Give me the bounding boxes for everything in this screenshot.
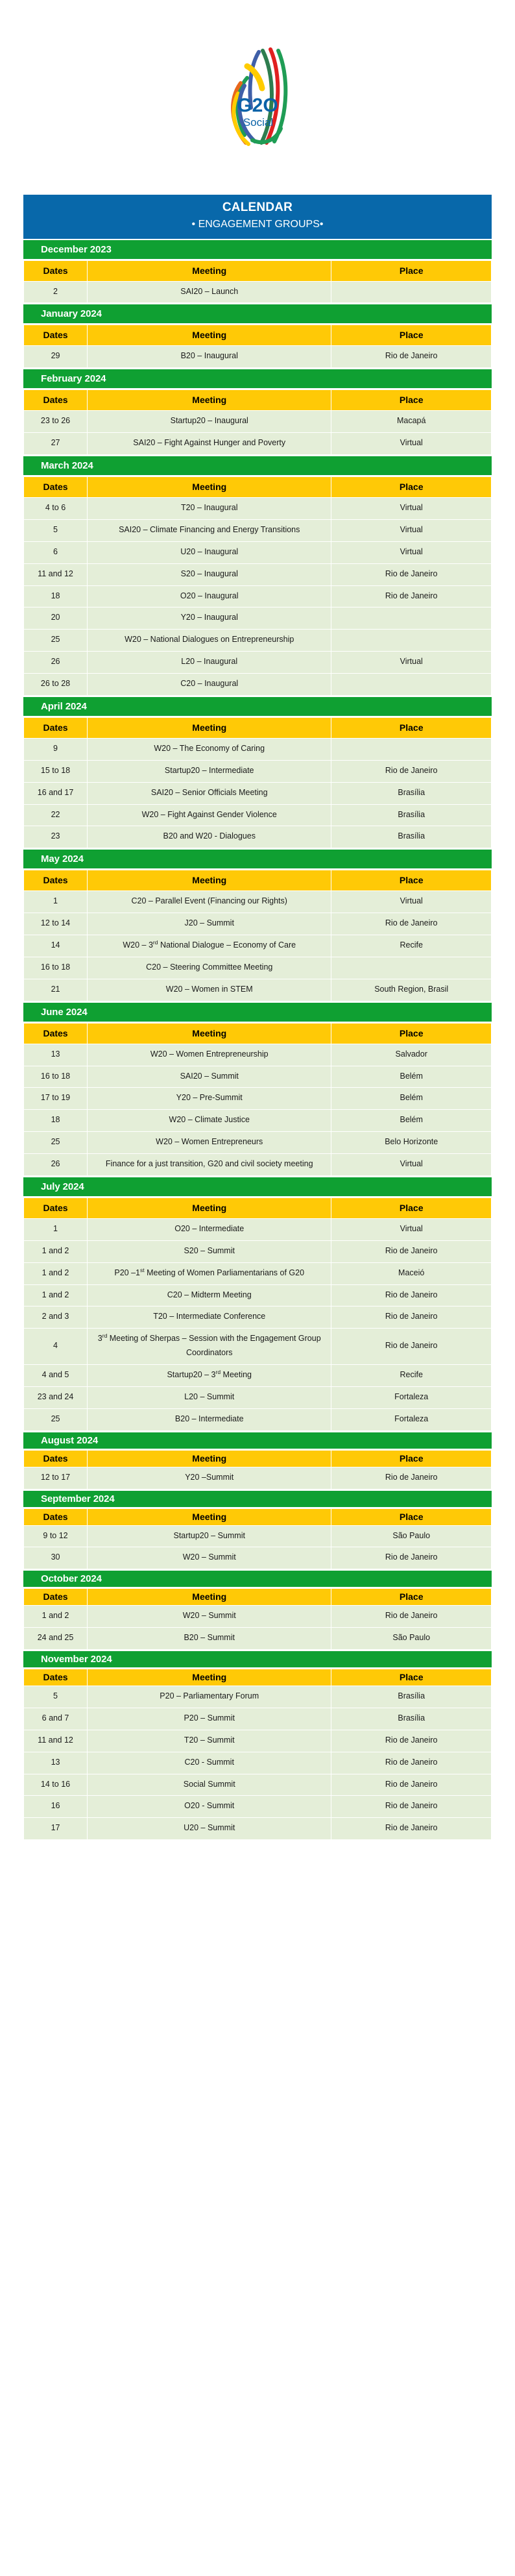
cell-place xyxy=(331,607,492,630)
cell-dates: 24 and 25 xyxy=(24,1628,88,1650)
table-row: 4 to 6T20 – InauguralVirtual xyxy=(24,498,492,520)
table-row: 30W20 – SummitRio de Janeiro xyxy=(24,1547,492,1569)
cell-meeting: L20 – Inaugural xyxy=(88,652,331,674)
cell-dates: 2 and 3 xyxy=(24,1306,88,1329)
cell-meeting: B20 – Inaugural xyxy=(88,346,331,368)
cell-dates: 16 to 18 xyxy=(24,1066,88,1088)
column-header-dates: Dates xyxy=(24,1023,88,1044)
cell-meeting: SAI20 – Summit xyxy=(88,1066,331,1088)
table-row: 1C20 – Parallel Event (Financing our Rig… xyxy=(24,891,492,913)
cell-place: Rio de Janeiro xyxy=(331,1306,492,1329)
table-row: 16O20 - SummitRio de Janeiro xyxy=(24,1796,492,1818)
table-row: 11 and 12S20 – InauguralRio de Janeiro xyxy=(24,563,492,585)
cell-meeting: W20 – Women in STEM xyxy=(88,979,331,1001)
month-header: June 2024 xyxy=(23,1003,492,1022)
column-header-dates: Dates xyxy=(24,1197,88,1218)
table-row: 16 to 18SAI20 – SummitBelém xyxy=(24,1066,492,1088)
cell-dates: 27 xyxy=(24,433,88,455)
cell-dates: 26 xyxy=(24,1154,88,1176)
month-header: May 2024 xyxy=(23,850,492,868)
table-row: 14 to 16Social SummitRio de Janeiro xyxy=(24,1774,492,1796)
cell-dates: 26 to 28 xyxy=(24,674,88,696)
cell-place: Rio de Janeiro xyxy=(331,1606,492,1628)
cell-meeting: B20 and W20 - Dialogues xyxy=(88,826,331,848)
cell-place: Rio de Janeiro xyxy=(331,1329,492,1365)
month-header: April 2024 xyxy=(23,697,492,716)
cell-place: Macapá xyxy=(331,411,492,433)
cell-place: Brasília xyxy=(331,1708,492,1730)
table-row: 4 and 5Startup20 – 3rd MeetingRecife xyxy=(24,1365,492,1387)
cell-dates: 6 xyxy=(24,541,88,563)
table-header-row: DatesMeetingPlace xyxy=(24,870,492,891)
cell-dates: 30 xyxy=(24,1547,88,1569)
cell-meeting: O20 – Intermediate xyxy=(88,1218,331,1240)
cell-meeting: Social Summit xyxy=(88,1774,331,1796)
cell-place xyxy=(331,674,492,696)
calendar-title: CALENDAR xyxy=(23,199,492,217)
cell-place: Belém xyxy=(331,1110,492,1132)
table-row: 13C20 - SummitRio de Janeiro xyxy=(24,1752,492,1774)
cell-place: Rio de Janeiro xyxy=(331,1818,492,1840)
column-header-dates: Dates xyxy=(24,1450,88,1467)
cell-meeting: L20 – Summit xyxy=(88,1386,331,1408)
table-row: 23B20 and W20 - DialoguesBrasília xyxy=(24,826,492,848)
table-row: 11 and 12T20 – SummitRio de Janeiro xyxy=(24,1730,492,1752)
cell-meeting: SAI20 – Launch xyxy=(88,281,331,303)
cell-meeting: P20 – Summit xyxy=(88,1708,331,1730)
cell-meeting: Startup20 – Summit xyxy=(88,1525,331,1547)
g20-social-logo: G2O Social xyxy=(219,45,296,149)
calendar-banner: CALENDAR • ENGAGEMENT GROUPS• xyxy=(23,195,492,239)
month-table: DatesMeetingPlace13W20 – Women Entrepren… xyxy=(23,1023,492,1176)
table-row: 2 and 3T20 – Intermediate ConferenceRio … xyxy=(24,1306,492,1329)
column-header-meeting: Meeting xyxy=(88,325,331,346)
cell-meeting: P20 – Parliamentary Forum xyxy=(88,1686,331,1708)
table-row: 9 to 12Startup20 – SummitSão Paulo xyxy=(24,1525,492,1547)
month-label: August 2024 xyxy=(41,1435,98,1446)
month-label: January 2024 xyxy=(41,308,102,319)
cell-place: Virtual xyxy=(331,891,492,913)
cell-meeting: W20 – Women Entrepreneurship xyxy=(88,1044,331,1066)
cell-place: Virtual xyxy=(331,433,492,455)
column-header-place: Place xyxy=(331,1450,492,1467)
table-header-row: DatesMeetingPlace xyxy=(24,477,492,498)
month-header: October 2024 xyxy=(23,1571,492,1587)
cell-dates: 11 and 12 xyxy=(24,563,88,585)
calendar-table: CALENDAR • ENGAGEMENT GROUPS• December 2… xyxy=(23,195,492,1840)
cell-meeting: U20 – Inaugural xyxy=(88,541,331,563)
cell-place: Virtual xyxy=(331,1218,492,1240)
cell-dates: 9 to 12 xyxy=(24,1525,88,1547)
table-row: 27SAI20 – Fight Against Hunger and Pover… xyxy=(24,433,492,455)
column-header-dates: Dates xyxy=(24,717,88,738)
cell-meeting: S20 – Summit xyxy=(88,1240,331,1262)
month-table: DatesMeetingPlace29B20 – InauguralRio de… xyxy=(23,325,492,368)
crescent-moon-icon xyxy=(30,1655,37,1663)
column-header-meeting: Meeting xyxy=(88,260,331,281)
month-header: February 2024 xyxy=(23,369,492,388)
cell-place: Rio de Janeiro xyxy=(331,563,492,585)
cell-place: Virtual xyxy=(331,541,492,563)
cell-dates: 22 xyxy=(24,804,88,826)
cell-dates: 13 xyxy=(24,1752,88,1774)
cell-meeting: B20 – Summit xyxy=(88,1628,331,1650)
cell-meeting: Y20 –Summit xyxy=(88,1467,331,1489)
cell-meeting: C20 – Parallel Event (Financing our Righ… xyxy=(88,891,331,913)
table-header-row: DatesMeetingPlace xyxy=(24,717,492,738)
month-label: September 2024 xyxy=(41,1493,115,1504)
months-list: December 2023DatesMeetingPlace2SAI20 – L… xyxy=(23,240,492,1841)
cell-meeting: W20 – Summit xyxy=(88,1547,331,1569)
cell-dates: 25 xyxy=(24,630,88,652)
cell-meeting: 3rd Meeting of Sherpas – Session with th… xyxy=(88,1329,331,1365)
cell-meeting: T20 – Summit xyxy=(88,1730,331,1752)
cell-dates: 21 xyxy=(24,979,88,1001)
cell-dates: 29 xyxy=(24,346,88,368)
table-row: 24 and 25B20 – SummitSão Paulo xyxy=(24,1628,492,1650)
table-row: 1 and 2C20 – Midterm MeetingRio de Janei… xyxy=(24,1284,492,1306)
table-header-row: DatesMeetingPlace xyxy=(24,1589,492,1606)
table-row: 1 and 2S20 – SummitRio de Janeiro xyxy=(24,1240,492,1262)
table-header-row: DatesMeetingPlace xyxy=(24,1450,492,1467)
table-row: 18W20 – Climate JusticeBelém xyxy=(24,1110,492,1132)
cell-dates: 1 xyxy=(24,891,88,913)
table-header-row: DatesMeetingPlace xyxy=(24,260,492,281)
month-table: DatesMeetingPlace1C20 – Parallel Event (… xyxy=(23,870,492,1001)
column-header-place: Place xyxy=(331,1589,492,1606)
table-row: 25B20 – IntermediateFortaleza xyxy=(24,1408,492,1430)
month-label: March 2024 xyxy=(41,460,93,471)
cell-place: Brasília xyxy=(331,782,492,804)
cell-meeting: O20 – Inaugural xyxy=(88,585,331,607)
month-label: February 2024 xyxy=(41,373,106,384)
cell-meeting: P20 –1st Meeting of Women Parliamentaria… xyxy=(88,1262,331,1284)
cell-meeting: Finance for a just transition, G20 and c… xyxy=(88,1154,331,1176)
cell-meeting: SAI20 – Senior Officials Meeting xyxy=(88,782,331,804)
column-header-meeting: Meeting xyxy=(88,1023,331,1044)
cell-place: Salvador xyxy=(331,1044,492,1066)
cell-meeting: J20 – Summit xyxy=(88,913,331,935)
cell-place: Rio de Janeiro xyxy=(331,1547,492,1569)
cell-dates: 1 and 2 xyxy=(24,1240,88,1262)
column-header-meeting: Meeting xyxy=(88,1197,331,1218)
cell-place: Rio de Janeiro xyxy=(331,1240,492,1262)
cell-place xyxy=(331,738,492,760)
cell-meeting: Y20 – Pre-Summit xyxy=(88,1088,331,1110)
cell-meeting: Startup20 – 3rd Meeting xyxy=(88,1365,331,1387)
month-header: November 2024 xyxy=(23,1651,492,1667)
cell-place xyxy=(331,630,492,652)
table-row: 25W20 – National Dialogues on Entreprene… xyxy=(24,630,492,652)
column-header-meeting: Meeting xyxy=(88,390,331,411)
cell-dates: 5 xyxy=(24,1686,88,1708)
cell-place: Brasília xyxy=(331,804,492,826)
cell-place: São Paulo xyxy=(331,1525,492,1547)
column-header-dates: Dates xyxy=(24,390,88,411)
cell-dates: 4 to 6 xyxy=(24,498,88,520)
column-header-dates: Dates xyxy=(24,1589,88,1606)
cell-dates: 17 xyxy=(24,1818,88,1840)
cell-dates: 25 xyxy=(24,1408,88,1430)
cell-dates: 16 to 18 xyxy=(24,957,88,979)
cell-place: São Paulo xyxy=(331,1628,492,1650)
month-table: DatesMeetingPlace1 and 2W20 – SummitRio … xyxy=(23,1588,492,1650)
cell-place: Fortaleza xyxy=(331,1408,492,1430)
month-header: August 2024 xyxy=(23,1432,492,1449)
table-row: 6 and 7P20 – SummitBrasília xyxy=(24,1708,492,1730)
cell-place: Rio de Janeiro xyxy=(331,1752,492,1774)
month-table: DatesMeetingPlace5P20 – Parliamentary Fo… xyxy=(23,1669,492,1840)
month-label: December 2023 xyxy=(41,244,112,255)
cell-place: Belém xyxy=(331,1088,492,1110)
cell-dates: 26 xyxy=(24,652,88,674)
cell-place: Belo Horizonte xyxy=(331,1132,492,1154)
table-row: 17 to 19Y20 – Pre-SummitBelém xyxy=(24,1088,492,1110)
svg-text:G2O: G2O xyxy=(237,95,278,116)
cell-dates: 2 xyxy=(24,281,88,303)
cell-dates: 14 to 16 xyxy=(24,1774,88,1796)
month-header: January 2024 xyxy=(23,304,492,323)
cell-dates: 18 xyxy=(24,585,88,607)
column-header-dates: Dates xyxy=(24,260,88,281)
column-header-place: Place xyxy=(331,390,492,411)
crescent-moon-icon xyxy=(30,245,37,254)
cell-meeting: C20 – Midterm Meeting xyxy=(88,1284,331,1306)
cell-dates: 5 xyxy=(24,519,88,541)
cell-dates: 12 to 14 xyxy=(24,913,88,935)
cell-meeting: B20 – Intermediate xyxy=(88,1408,331,1430)
column-header-dates: Dates xyxy=(24,870,88,891)
column-header-place: Place xyxy=(331,1023,492,1044)
month-label: April 2024 xyxy=(41,701,87,712)
cell-dates: 1 and 2 xyxy=(24,1284,88,1306)
crescent-moon-icon xyxy=(30,702,37,711)
cell-meeting: Startup20 – Inaugural xyxy=(88,411,331,433)
column-header-meeting: Meeting xyxy=(88,717,331,738)
cell-place: Recife xyxy=(331,1365,492,1387)
table-row: 26L20 – InauguralVirtual xyxy=(24,652,492,674)
month-label: May 2024 xyxy=(41,853,84,865)
cell-dates: 16 xyxy=(24,1796,88,1818)
table-row: 16 and 17SAI20 – Senior Officials Meetin… xyxy=(24,782,492,804)
month-table: DatesMeetingPlace1O20 – IntermediateVirt… xyxy=(23,1197,492,1431)
table-header-row: DatesMeetingPlace xyxy=(24,1023,492,1044)
calendar-subtitle: • ENGAGEMENT GROUPS• xyxy=(23,217,492,234)
table-row: 12 to 17Y20 –SummitRio de Janeiro xyxy=(24,1467,492,1489)
table-row: 9W20 – The Economy of Caring xyxy=(24,738,492,760)
column-header-meeting: Meeting xyxy=(88,1669,331,1686)
column-header-dates: Dates xyxy=(24,325,88,346)
cell-meeting: SAI20 – Fight Against Hunger and Poverty xyxy=(88,433,331,455)
cell-dates: 23 to 26 xyxy=(24,411,88,433)
cell-dates: 17 to 19 xyxy=(24,1088,88,1110)
cell-meeting: W20 – National Dialogues on Entrepreneur… xyxy=(88,630,331,652)
cell-dates: 16 and 17 xyxy=(24,782,88,804)
cell-dates: 23 and 24 xyxy=(24,1386,88,1408)
cell-place: Virtual xyxy=(331,519,492,541)
table-row: 1O20 – IntermediateVirtual xyxy=(24,1218,492,1240)
table-row: 23 to 26Startup20 – InauguralMacapá xyxy=(24,411,492,433)
column-header-meeting: Meeting xyxy=(88,1508,331,1525)
month-table: DatesMeetingPlace9W20 – The Economy of C… xyxy=(23,717,492,848)
cell-dates: 1 and 2 xyxy=(24,1606,88,1628)
cell-place: Virtual xyxy=(331,652,492,674)
table-header-row: DatesMeetingPlace xyxy=(24,1197,492,1218)
column-header-dates: Dates xyxy=(24,477,88,498)
column-header-place: Place xyxy=(331,1508,492,1525)
cell-place: Fortaleza xyxy=(331,1386,492,1408)
calendar-page: G2O Social CALENDAR • ENGAGEMENT GROUPS•… xyxy=(0,0,515,1840)
cell-meeting: T20 – Inaugural xyxy=(88,498,331,520)
table-row: 18O20 – InauguralRio de Janeiro xyxy=(24,585,492,607)
cell-dates: 25 xyxy=(24,1132,88,1154)
crescent-moon-icon xyxy=(30,461,37,470)
cell-place: South Region, Brasil xyxy=(331,979,492,1001)
table-header-row: DatesMeetingPlace xyxy=(24,325,492,346)
table-row: 15 to 18Startup20 – IntermediateRio de J… xyxy=(24,760,492,782)
cell-dates: 4 and 5 xyxy=(24,1365,88,1387)
cell-meeting: Y20 – Inaugural xyxy=(88,607,331,630)
cell-place: Virtual xyxy=(331,1154,492,1176)
table-row: 14W20 – 3rd National Dialogue – Economy … xyxy=(24,935,492,957)
table-row: 6U20 – InauguralVirtual xyxy=(24,541,492,563)
cell-place xyxy=(331,957,492,979)
table-row: 13W20 – Women EntrepreneurshipSalvador xyxy=(24,1044,492,1066)
cell-place: Maceió xyxy=(331,1262,492,1284)
table-row: 26Finance for a just transition, G20 and… xyxy=(24,1154,492,1176)
column-header-place: Place xyxy=(331,1197,492,1218)
month-table: DatesMeetingPlace2SAI20 – Launch xyxy=(23,260,492,304)
crescent-moon-icon xyxy=(30,855,37,863)
cell-dates: 12 to 17 xyxy=(24,1467,88,1489)
table-row: 1 and 2P20 –1st Meeting of Women Parliam… xyxy=(24,1262,492,1284)
table-row: 12 to 14J20 – SummitRio de Janeiro xyxy=(24,913,492,935)
month-header: March 2024 xyxy=(23,456,492,475)
cell-meeting: W20 – Women Entrepreneurs xyxy=(88,1132,331,1154)
cell-place: Rio de Janeiro xyxy=(331,913,492,935)
cell-meeting: W20 – 3rd National Dialogue – Economy of… xyxy=(88,935,331,957)
cell-place: Recife xyxy=(331,935,492,957)
cell-place: Rio de Janeiro xyxy=(331,1730,492,1752)
month-label: July 2024 xyxy=(41,1181,84,1192)
column-header-dates: Dates xyxy=(24,1508,88,1525)
cell-dates: 13 xyxy=(24,1044,88,1066)
month-label: November 2024 xyxy=(41,1654,112,1665)
cell-place: Virtual xyxy=(331,498,492,520)
cell-place: Brasília xyxy=(331,1686,492,1708)
cell-dates: 4 xyxy=(24,1329,88,1365)
month-table: DatesMeetingPlace4 to 6T20 – InauguralVi… xyxy=(23,476,492,696)
table-row: 25W20 – Women EntrepreneursBelo Horizont… xyxy=(24,1132,492,1154)
cell-dates: 11 and 12 xyxy=(24,1730,88,1752)
cell-place: Rio de Janeiro xyxy=(331,1467,492,1489)
month-header: September 2024 xyxy=(23,1491,492,1507)
crescent-moon-icon xyxy=(30,1183,37,1191)
table-row: 5P20 – Parliamentary ForumBrasília xyxy=(24,1686,492,1708)
crescent-moon-icon xyxy=(30,310,37,318)
table-row: 20Y20 – Inaugural xyxy=(24,607,492,630)
column-header-place: Place xyxy=(331,1669,492,1686)
cell-meeting: W20 – Summit xyxy=(88,1606,331,1628)
cell-dates: 1 and 2 xyxy=(24,1262,88,1284)
cell-meeting: T20 – Intermediate Conference xyxy=(88,1306,331,1329)
cell-place: Rio de Janeiro xyxy=(331,585,492,607)
table-row: 23 and 24L20 – SummitFortaleza xyxy=(24,1386,492,1408)
table-header-row: DatesMeetingPlace xyxy=(24,1669,492,1686)
cell-meeting: C20 – Inaugural xyxy=(88,674,331,696)
table-row: 43rd Meeting of Sherpas – Session with t… xyxy=(24,1329,492,1365)
cell-meeting: C20 - Summit xyxy=(88,1752,331,1774)
table-row: 26 to 28C20 – Inaugural xyxy=(24,674,492,696)
month-table: DatesMeetingPlace23 to 26Startup20 – Ina… xyxy=(23,389,492,455)
cell-dates: 20 xyxy=(24,607,88,630)
column-header-meeting: Meeting xyxy=(88,1589,331,1606)
month-label: October 2024 xyxy=(41,1573,102,1584)
cell-dates: 18 xyxy=(24,1110,88,1132)
table-header-row: DatesMeetingPlace xyxy=(24,1508,492,1525)
table-row: 2SAI20 – Launch xyxy=(24,281,492,303)
cell-dates: 15 to 18 xyxy=(24,760,88,782)
crescent-moon-icon xyxy=(30,1575,37,1583)
cell-dates: 23 xyxy=(24,826,88,848)
column-header-meeting: Meeting xyxy=(88,870,331,891)
cell-meeting: Startup20 – Intermediate xyxy=(88,760,331,782)
crescent-moon-icon xyxy=(30,1008,37,1016)
column-header-meeting: Meeting xyxy=(88,1450,331,1467)
month-table: DatesMeetingPlace12 to 17Y20 –SummitRio … xyxy=(23,1450,492,1490)
table-row: 5SAI20 – Climate Financing and Energy Tr… xyxy=(24,519,492,541)
column-header-meeting: Meeting xyxy=(88,477,331,498)
table-row: 29B20 – InauguralRio de Janeiro xyxy=(24,346,492,368)
cell-meeting: C20 – Steering Committee Meeting xyxy=(88,957,331,979)
column-header-place: Place xyxy=(331,870,492,891)
cell-meeting: W20 – The Economy of Caring xyxy=(88,738,331,760)
cell-place: Belém xyxy=(331,1066,492,1088)
cell-meeting: W20 – Climate Justice xyxy=(88,1110,331,1132)
cell-meeting: W20 – Fight Against Gender Violence xyxy=(88,804,331,826)
column-header-place: Place xyxy=(331,477,492,498)
table-row: 21W20 – Women in STEMSouth Region, Brasi… xyxy=(24,979,492,1001)
cell-meeting: O20 - Summit xyxy=(88,1796,331,1818)
cell-place: Rio de Janeiro xyxy=(331,1284,492,1306)
month-label: June 2024 xyxy=(41,1007,88,1018)
svg-text:Social: Social xyxy=(243,116,273,129)
cell-dates: 6 and 7 xyxy=(24,1708,88,1730)
month-header: December 2023 xyxy=(23,240,492,259)
cell-place xyxy=(331,281,492,303)
crescent-moon-icon xyxy=(30,1436,37,1445)
table-row: 16 to 18C20 – Steering Committee Meeting xyxy=(24,957,492,979)
crescent-moon-icon xyxy=(30,374,37,383)
column-header-place: Place xyxy=(331,717,492,738)
cell-meeting: S20 – Inaugural xyxy=(88,563,331,585)
table-header-row: DatesMeetingPlace xyxy=(24,390,492,411)
column-header-place: Place xyxy=(331,260,492,281)
cell-meeting: U20 – Summit xyxy=(88,1818,331,1840)
cell-dates: 1 xyxy=(24,1218,88,1240)
cell-place: Rio de Janeiro xyxy=(331,1796,492,1818)
table-row: 1 and 2W20 – SummitRio de Janeiro xyxy=(24,1606,492,1628)
cell-meeting: SAI20 – Climate Financing and Energy Tra… xyxy=(88,519,331,541)
cell-place: Brasília xyxy=(331,826,492,848)
month-table: DatesMeetingPlace9 to 12Startup20 – Summ… xyxy=(23,1508,492,1570)
logo-container: G2O Social xyxy=(0,0,515,195)
cell-place: Rio de Janeiro xyxy=(331,760,492,782)
cell-dates: 9 xyxy=(24,738,88,760)
table-row: 17U20 – SummitRio de Janeiro xyxy=(24,1818,492,1840)
column-header-place: Place xyxy=(331,325,492,346)
cell-dates: 14 xyxy=(24,935,88,957)
